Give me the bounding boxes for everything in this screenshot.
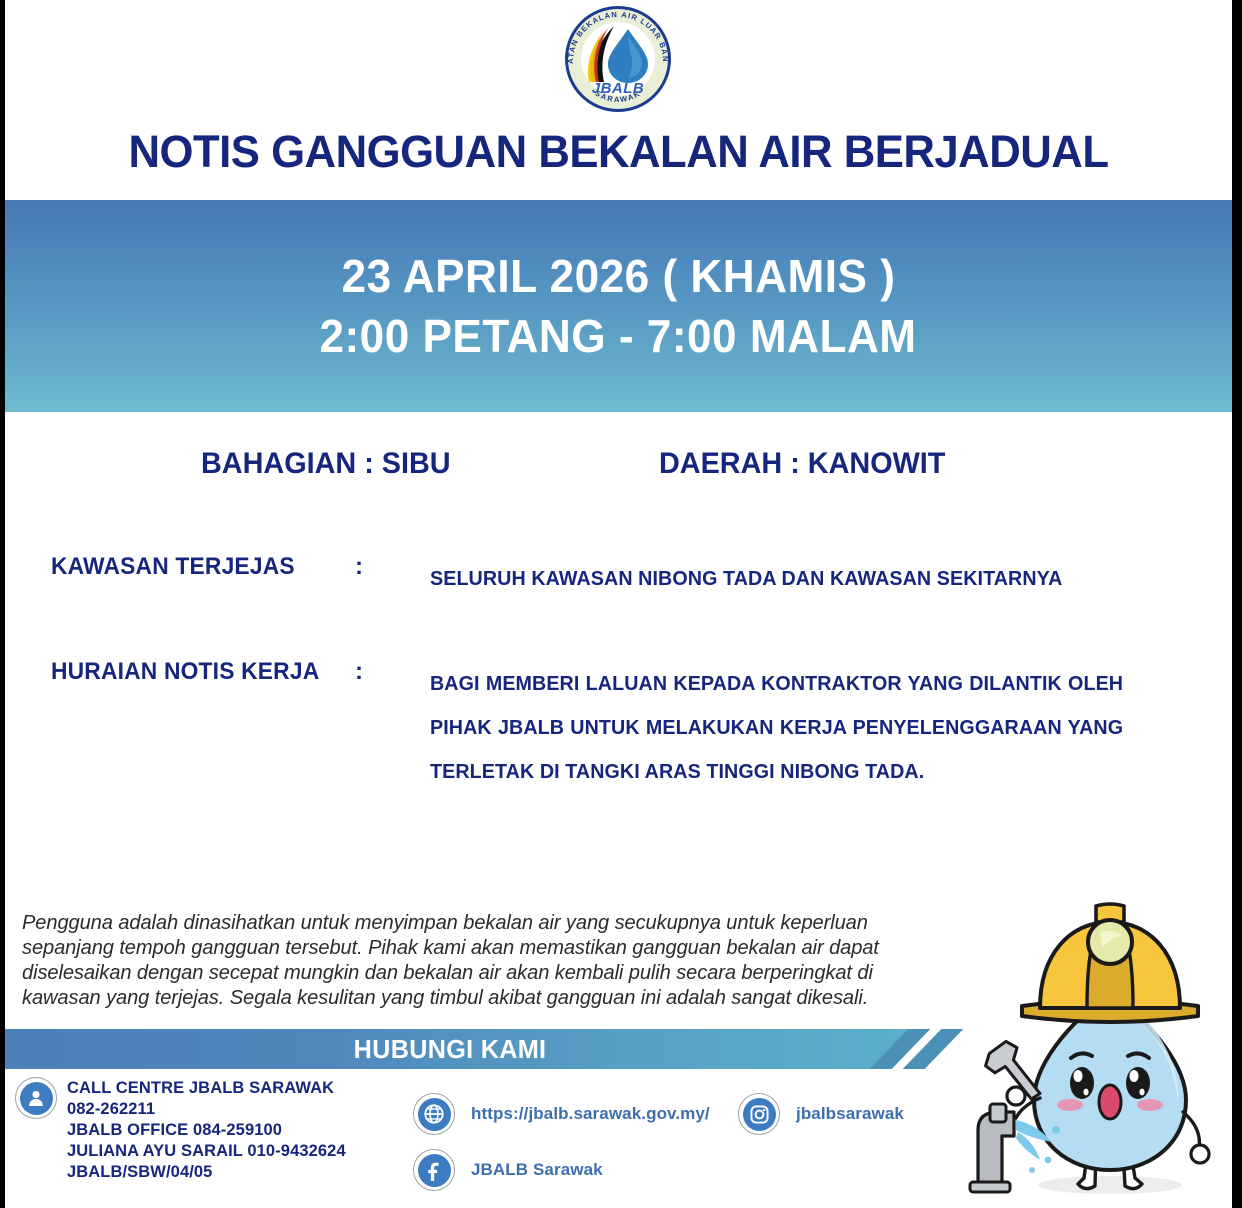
call-centre-lines: CALL CENTRE JBALB SARAWAK 082-262211 JBA…	[67, 1077, 346, 1183]
call-centre-number[interactable]: 082-262211	[67, 1099, 346, 1120]
water-drop-worker-mascot	[960, 898, 1232, 1208]
work-description-value: BAGI MEMBERI LALUAN KEPADA KONTRAKTOR YA…	[430, 662, 1123, 794]
district-label: DAERAH : KANOWIT	[659, 447, 945, 481]
web-social-block: https://jbalb.sarawak.gov.my/ JBALB Sara…	[413, 1093, 710, 1205]
page-title: NOTIS GANGGUAN BEKALAN AIR BERJADUAL	[23, 126, 1213, 178]
facebook-handle[interactable]: JBALB Sarawak	[471, 1160, 603, 1180]
instagram-block: jbalbsarawak	[738, 1093, 904, 1149]
work-description-label: HURAIAN NOTIS KERJA	[51, 658, 319, 686]
call-centre-title: CALL CENTRE JBALB SARAWAK	[67, 1078, 346, 1099]
person-contact[interactable]: JULIANA AYU SARAIL 010-9432624	[67, 1141, 346, 1162]
affected-area-label: KAWASAN TERJEJAS	[51, 553, 295, 581]
jbalb-water-drop-logo: JABATAN BEKALAN AIR LUAR BANDAR SARAWAK …	[556, 4, 681, 114]
office-number[interactable]: JBALB OFFICE 084-259100	[67, 1120, 346, 1141]
schedule-banner: 23 APRIL 2026 ( KHAMIS ) 2:00 PETANG - 7…	[5, 200, 1232, 412]
instagram-row[interactable]: jbalbsarawak	[738, 1093, 904, 1135]
work-description-line-2: PIHAK JBALB UNTUK MELAKUKAN KERJA PENYEL…	[430, 706, 1123, 750]
contact-banner: HUBUNGI KAMI	[5, 1029, 1015, 1069]
instagram-glyph	[749, 1104, 770, 1125]
globe-icon-disc	[418, 1098, 451, 1131]
contact-banner-title: HUBUNGI KAMI	[18, 1029, 881, 1069]
schedule-time: 2:00 PETANG - 7:00 MALAM	[320, 309, 917, 363]
instagram-icon-disc	[743, 1098, 776, 1131]
website-row[interactable]: https://jbalb.sarawak.gov.my/	[413, 1093, 710, 1135]
globe-icon[interactable]	[413, 1093, 455, 1135]
facebook-glyph	[423, 1159, 445, 1181]
instagram-handle[interactable]: jbalbsarawak	[796, 1104, 904, 1124]
person-icon-disc	[20, 1082, 53, 1115]
facebook-row[interactable]: JBALB Sarawak	[413, 1149, 710, 1191]
affected-area-value: SELURUH KAWASAN NIBONG TADA DAN KAWASAN …	[430, 557, 1123, 601]
facebook-icon-disc	[418, 1154, 451, 1187]
call-centre-block: CALL CENTRE JBALB SARAWAK 082-262211 JBA…	[15, 1077, 346, 1183]
work-description-line-1: BAGI MEMBERI LALUAN KEPADA KONTRAKTOR YA…	[430, 662, 1123, 706]
work-description-line-3: TERLETAK DI TANGKI ARAS TINGGI NIBONG TA…	[430, 750, 1123, 794]
reference-number: JBALB/SBW/04/05	[67, 1162, 346, 1183]
facebook-icon[interactable]	[413, 1149, 455, 1191]
mascot-illustration	[960, 898, 1232, 1208]
disclaimer-text: Pengguna adalah dinasihatkan untuk menyi…	[22, 910, 884, 1010]
svg-text:JBALB: JBALB	[592, 80, 645, 97]
person-glyph	[26, 1088, 46, 1108]
jbalb-logo: JABATAN BEKALAN AIR LUAR BANDAR SARAWAK …	[556, 4, 681, 114]
person-icon	[15, 1077, 57, 1119]
schedule-date: 23 APRIL 2026 ( KHAMIS )	[342, 249, 896, 303]
work-description-colon: :	[355, 658, 363, 686]
website-url[interactable]: https://jbalb.sarawak.gov.my/	[471, 1104, 710, 1124]
instagram-icon[interactable]	[738, 1093, 780, 1135]
globe-glyph	[423, 1103, 445, 1125]
division-label: BAHAGIAN : SIBU	[201, 447, 451, 481]
affected-area-colon: :	[355, 553, 363, 581]
notice-poster: JABATAN BEKALAN AIR LUAR BANDAR SARAWAK …	[5, 0, 1232, 1208]
